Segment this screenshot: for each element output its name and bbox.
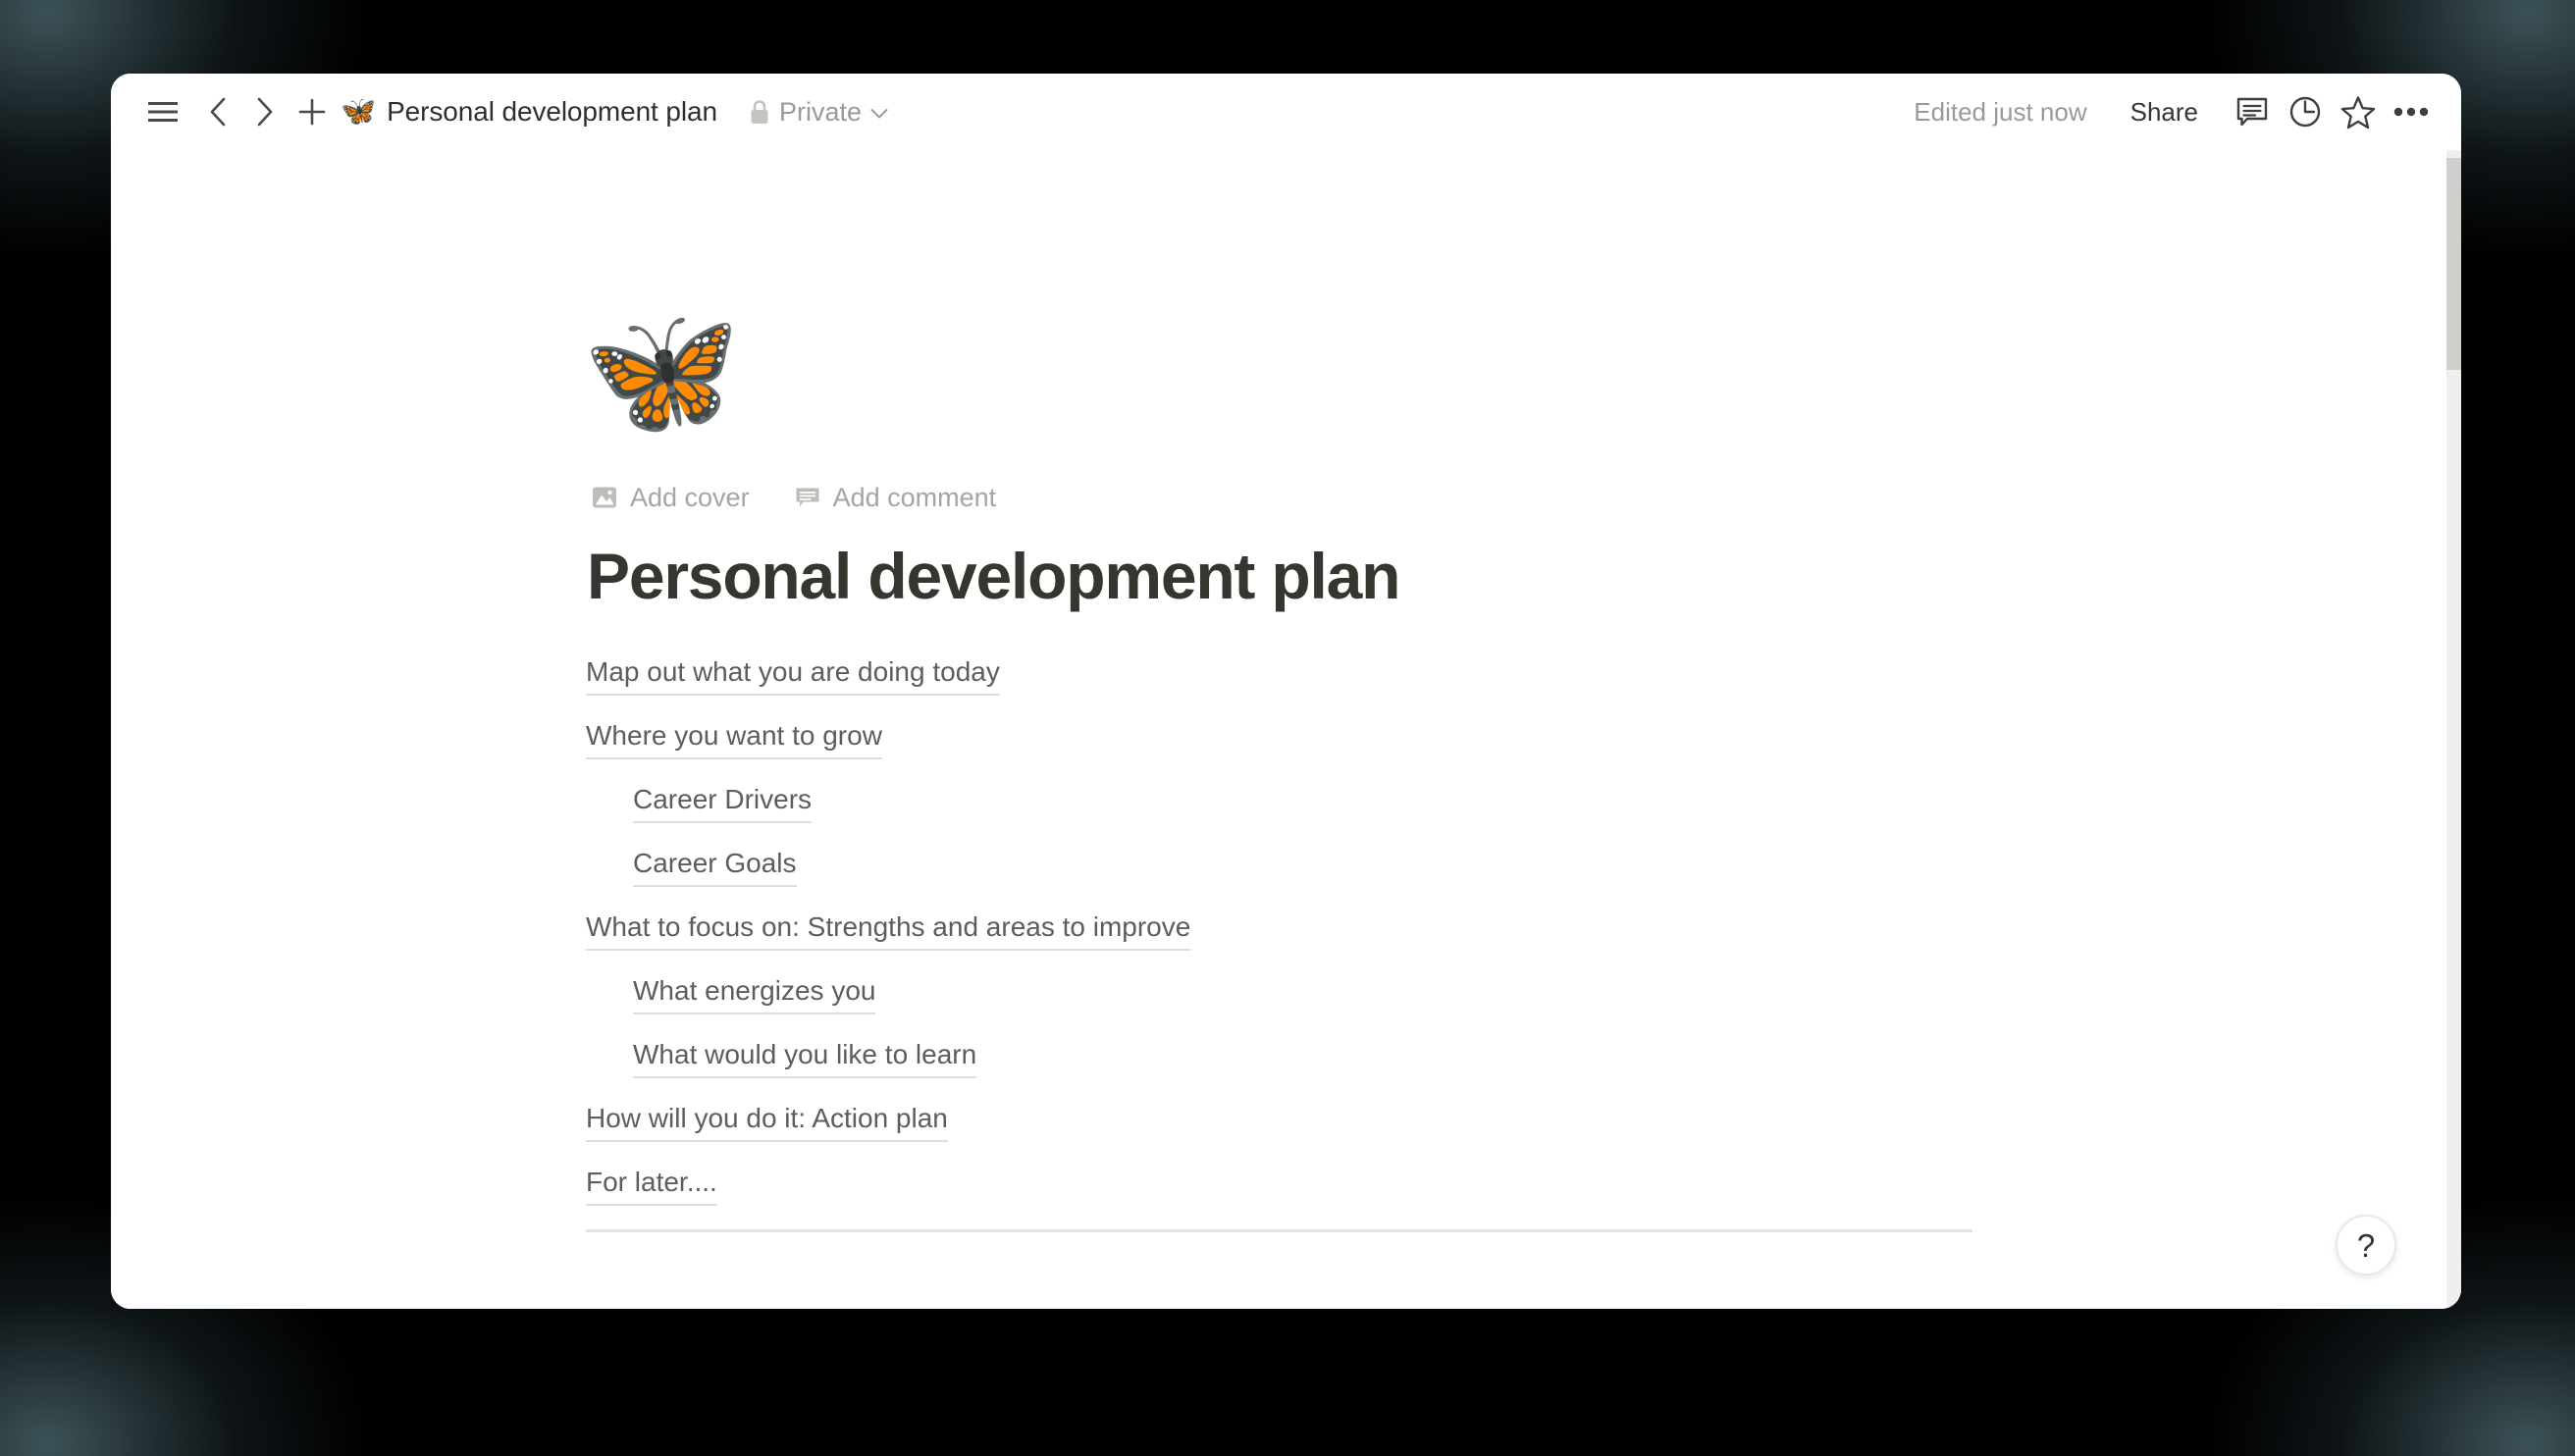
app-window: 🦋 Personal development plan Private — [111, 74, 2461, 1309]
star-icon[interactable] — [2332, 87, 2385, 136]
document-scroll-area[interactable]: 🦋 Add cover — [111, 150, 2461, 1309]
section-divider — [586, 1229, 1972, 1232]
lock-icon — [749, 99, 770, 126]
toc-link[interactable]: What would you like to learn — [633, 1038, 976, 1078]
breadcrumb-title[interactable]: Personal development plan — [387, 96, 717, 128]
add-cover-label: Add cover — [630, 483, 750, 513]
help-button[interactable]: ? — [2336, 1215, 2396, 1275]
comment-icon[interactable] — [2226, 87, 2279, 136]
clock-icon[interactable] — [2279, 87, 2332, 136]
toc-link[interactable]: Where you want to grow — [586, 719, 882, 759]
page-action-bar: Add cover Add comment — [586, 474, 1979, 521]
add-cover-button[interactable]: Add cover — [586, 479, 756, 517]
toc-link[interactable]: What energizes you — [633, 974, 875, 1014]
edited-status: Edited just now — [1906, 91, 2094, 133]
document-body: 🦋 Add cover — [586, 150, 1979, 1232]
toc-link[interactable]: What to focus on: Strengths and areas to… — [586, 910, 1190, 951]
top-bar-actions: Edited just now Share — [1906, 87, 2438, 136]
add-comment-label: Add comment — [833, 483, 997, 513]
ellipsis-icon[interactable] — [2385, 87, 2438, 136]
page-content: 🦋 Add cover — [111, 150, 2461, 1232]
share-button[interactable]: Share — [2121, 91, 2208, 133]
toc-link[interactable]: Career Goals — [633, 847, 797, 887]
toc-link[interactable]: Map out what you are doing today — [586, 655, 1000, 696]
butterfly-emoji-icon: 🦋 — [341, 98, 376, 127]
add-comment-button[interactable]: Add comment — [789, 479, 1003, 517]
chevron-right-icon[interactable] — [242, 89, 288, 134]
page-title[interactable]: Personal development plan — [587, 539, 1979, 614]
chevron-left-icon[interactable] — [195, 89, 240, 134]
privacy-selector[interactable]: Private — [743, 93, 894, 131]
vertical-scrollbar-track[interactable] — [2446, 150, 2461, 1309]
top-bar: 🦋 Personal development plan Private — [111, 74, 2461, 150]
desktop-background: 🦋 Personal development plan Private — [0, 0, 2575, 1456]
table-of-contents: Map out what you are doing today Where y… — [586, 655, 1979, 1206]
image-icon — [592, 485, 617, 510]
toc-link[interactable]: How will you do it: Action plan — [586, 1102, 948, 1142]
privacy-label: Private — [779, 97, 862, 128]
vertical-scrollbar-thumb[interactable] — [2446, 158, 2461, 370]
breadcrumb[interactable]: 🦋 Personal development plan — [341, 96, 717, 128]
hamburger-icon[interactable] — [140, 89, 185, 134]
toc-link[interactable]: For later.... — [586, 1166, 717, 1206]
toc-link[interactable]: Career Drivers — [633, 783, 812, 823]
comment-icon — [795, 485, 820, 510]
chevron-down-icon — [870, 105, 888, 120]
page-butterfly-emoji-icon[interactable]: 🦋 — [582, 307, 1979, 444]
plus-icon[interactable] — [289, 89, 335, 134]
